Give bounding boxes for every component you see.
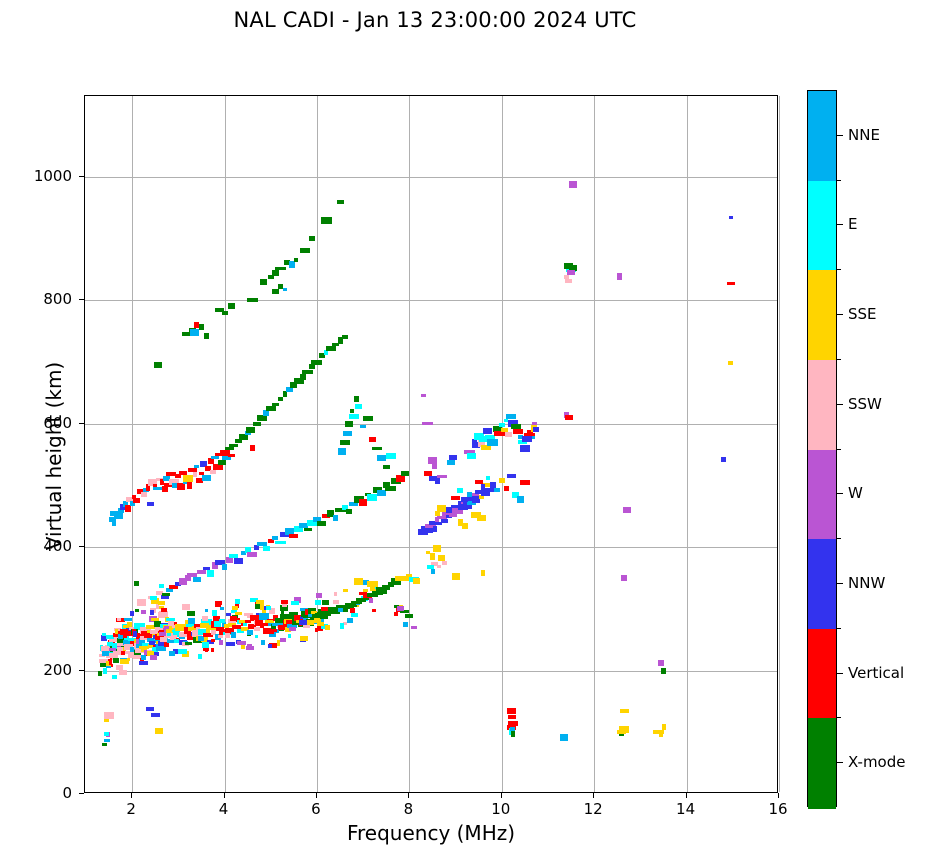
x-tick-label: 8 [388, 800, 428, 818]
echo-marker [432, 463, 437, 469]
echo-marker [212, 610, 217, 616]
echo-marker [219, 640, 223, 645]
ionogram-figure: NAL CADI - Jan 13 23:00:00 2024 UTC 2468… [0, 0, 951, 856]
echo-marker [205, 609, 208, 612]
echo-marker [386, 453, 396, 459]
colorbar-tick [837, 404, 843, 405]
echo-marker [317, 622, 324, 626]
echo-marker [728, 361, 733, 365]
echo-marker [155, 728, 163, 734]
echo-marker [272, 536, 278, 540]
echo-marker [360, 425, 366, 428]
colorbar-segment-e [808, 181, 836, 271]
echo-marker [190, 329, 199, 336]
x-tick [593, 793, 594, 798]
colorbar-tick [837, 314, 843, 315]
echo-marker [116, 665, 123, 670]
colorbar-separator-tick [837, 359, 841, 360]
echo-marker [662, 724, 666, 730]
echo-marker [447, 460, 455, 465]
echo-marker [337, 200, 344, 204]
x-tick [131, 793, 132, 798]
echo-marker [334, 592, 337, 596]
echo-marker [315, 600, 321, 605]
echo-marker [367, 581, 378, 587]
echo-marker [342, 335, 348, 339]
echo-marker [102, 743, 107, 746]
echo-marker [355, 404, 362, 409]
echo-marker [150, 655, 157, 660]
echo-marker [272, 289, 279, 294]
echo-marker [199, 324, 204, 330]
colorbar-label-sse: SSE [848, 305, 877, 323]
echo-marker [394, 612, 398, 616]
echo-marker [350, 608, 355, 613]
echo-marker [430, 553, 435, 560]
echo-marker [222, 311, 228, 315]
echo-marker [255, 604, 260, 609]
colorbar-segment-x-mode [808, 718, 836, 808]
echo-marker [234, 558, 243, 564]
echo-marker [182, 604, 190, 610]
colorbar-label-ssw: SSW [848, 395, 882, 413]
echo-marker [321, 607, 328, 611]
x-tick-label: 16 [758, 800, 798, 818]
echo-marker [437, 505, 446, 512]
echo-marker [499, 478, 505, 483]
echo-marker [303, 625, 310, 628]
colorbar-separator-tick [837, 269, 841, 270]
echo-marker [235, 599, 240, 604]
echo-marker [280, 638, 286, 642]
y-tick [79, 793, 84, 794]
echo-marker [104, 739, 110, 742]
echo-marker [501, 428, 508, 432]
echo-marker [159, 584, 164, 588]
echo-marker [231, 632, 236, 638]
x-tick-label: 12 [573, 800, 613, 818]
echo-marker [289, 261, 295, 268]
echo-marker [98, 671, 102, 676]
echo-marker [369, 598, 373, 603]
colorbar-separator-tick [837, 538, 841, 539]
echo-marker [506, 414, 516, 419]
echo-marker [494, 488, 500, 492]
echo-marker [347, 618, 353, 623]
colorbar-label-nne: NNE [848, 126, 880, 144]
echo-marker [225, 633, 230, 638]
echo-marker [300, 636, 308, 641]
echo-marker [146, 707, 154, 711]
echo-marker [141, 610, 146, 614]
echo-marker [185, 620, 188, 624]
echo-marker [346, 509, 352, 514]
echo-marker [228, 303, 235, 309]
echo-marker [150, 610, 154, 615]
echo-marker [183, 475, 193, 482]
echo-marker [499, 423, 505, 427]
echo-marker [202, 616, 208, 621]
x-tick-label: 6 [296, 800, 336, 818]
y-tick-label: 200 [24, 661, 72, 679]
echo-marker [149, 641, 155, 645]
y-tick-label: 0 [24, 784, 72, 802]
echo-marker [721, 457, 726, 462]
echo-marker [187, 611, 195, 616]
echo-marker [109, 660, 112, 665]
echo-marker [120, 629, 128, 635]
echo-marker [560, 734, 568, 741]
echo-marker [161, 608, 167, 612]
echo-marker [486, 476, 490, 480]
echo-marker [151, 713, 160, 717]
echo-marker [112, 519, 116, 526]
echo-marker [100, 663, 106, 667]
echo-marker [372, 447, 382, 450]
echo-marker [278, 397, 283, 401]
colorbar-label-e: E [848, 215, 857, 233]
echo-marker [359, 499, 367, 506]
echo-marker [481, 484, 485, 490]
echo-marker [202, 475, 211, 481]
echo-marker [729, 216, 733, 219]
echo-marker [141, 655, 146, 660]
echo-marker [237, 641, 246, 645]
echo-marker [137, 599, 146, 606]
page-title: NAL CADI - Jan 13 23:00:00 2024 UTC [0, 8, 870, 32]
echo-marker [400, 610, 409, 613]
echo-marker [520, 445, 530, 452]
echo-marker [141, 492, 147, 497]
echo-marker [187, 482, 192, 489]
echo-scatter-layer [85, 96, 777, 792]
echo-marker [294, 258, 298, 262]
echo-marker [452, 573, 460, 580]
colorbar-segment-nne [808, 91, 836, 181]
echo-marker [266, 406, 276, 411]
colorbar-segment-vertical [808, 629, 836, 719]
echo-marker [321, 217, 332, 224]
y-tick [79, 176, 84, 177]
echo-marker [349, 414, 359, 419]
echo-marker [291, 601, 299, 605]
echo-marker [147, 502, 154, 506]
echo-marker [125, 505, 131, 512]
echo-marker [260, 279, 267, 285]
echo-marker [200, 623, 209, 628]
colorbar-separator-tick [837, 180, 841, 181]
echo-marker [204, 333, 209, 339]
echo-marker [343, 589, 348, 592]
echo-marker [261, 640, 265, 645]
echo-marker [340, 440, 350, 445]
y-tick [79, 423, 84, 424]
echo-marker [431, 569, 435, 574]
colorbar-tick [837, 673, 843, 674]
colorbar-label-x-mode: X-mode [848, 753, 905, 771]
echo-marker [338, 608, 343, 612]
echo-marker [218, 635, 223, 638]
x-tick [224, 793, 225, 798]
echo-marker [197, 570, 206, 574]
y-tick [79, 299, 84, 300]
x-tick-label: 10 [481, 800, 521, 818]
echo-marker [211, 639, 215, 642]
echo-marker [246, 427, 255, 433]
echo-marker [219, 619, 225, 623]
echo-marker [158, 601, 165, 605]
echo-marker [658, 660, 664, 666]
echo-marker [385, 486, 396, 491]
echo-marker [325, 625, 330, 630]
echo-marker [255, 635, 258, 638]
echo-marker [202, 642, 209, 648]
echo-marker [617, 273, 622, 280]
echo-marker [481, 570, 485, 576]
echo-marker [167, 633, 171, 636]
echo-marker [113, 658, 119, 663]
echo-marker [520, 480, 530, 485]
echo-marker [659, 734, 663, 737]
echo-marker [565, 415, 573, 420]
echo-marker [246, 646, 254, 650]
echo-marker [354, 578, 363, 585]
echo-marker [210, 470, 216, 474]
echo-marker [263, 546, 270, 551]
echo-marker [178, 649, 187, 654]
x-tick [778, 793, 779, 798]
echo-marker [367, 494, 377, 501]
echo-marker [150, 596, 157, 600]
colorbar-tick [837, 224, 843, 225]
echo-marker [193, 472, 197, 477]
echo-marker [229, 444, 238, 447]
colorbar-tick [837, 135, 843, 136]
echo-marker [569, 181, 577, 188]
echo-marker [422, 527, 433, 533]
colorbar-label-nnw: NNW [848, 574, 885, 592]
echo-marker [104, 732, 109, 736]
echo-marker [427, 565, 434, 569]
echo-marker [127, 622, 132, 627]
echo-marker [211, 648, 214, 652]
echo-marker [437, 475, 447, 478]
echo-marker [363, 589, 368, 592]
plot-area [84, 95, 778, 793]
echo-marker [112, 675, 117, 679]
echo-marker [533, 427, 539, 432]
echo-marker [441, 519, 448, 523]
echo-marker [372, 609, 376, 612]
echo-marker [322, 600, 329, 605]
echo-marker [241, 644, 245, 649]
echo-marker [477, 515, 486, 521]
colorbar-separator-tick [837, 449, 841, 450]
echo-marker [567, 270, 575, 275]
colorbar-tick [837, 583, 843, 584]
echo-marker [343, 431, 352, 436]
x-tick-label: 14 [666, 800, 706, 818]
echo-marker [461, 497, 468, 502]
echo-marker [309, 236, 315, 241]
echo-marker [315, 613, 323, 617]
echo-marker [462, 523, 468, 529]
echo-marker [207, 570, 214, 577]
echo-marker [198, 654, 202, 659]
echo-marker [326, 346, 336, 351]
echo-marker [272, 270, 279, 276]
echo-marker [316, 593, 322, 598]
echo-marker [433, 526, 437, 532]
echo-marker [451, 496, 460, 500]
echo-marker [220, 607, 224, 610]
colorbar-label-w: W [848, 484, 863, 502]
echo-marker [565, 279, 572, 283]
echo-marker [226, 642, 235, 646]
echo-marker [401, 471, 409, 476]
echo-marker [302, 370, 313, 374]
echo-marker [437, 565, 441, 568]
echo-marker [363, 416, 373, 421]
echo-marker [124, 618, 132, 621]
echo-marker [621, 575, 627, 581]
echo-marker [422, 422, 433, 425]
echo-marker [505, 432, 512, 437]
colorbar-segment-sse [808, 270, 836, 360]
echo-marker [274, 629, 277, 632]
echo-marker [487, 439, 498, 446]
echo-marker [139, 661, 148, 665]
echo-marker [174, 639, 179, 643]
echo-marker [403, 622, 408, 627]
echo-marker [309, 364, 315, 369]
echo-marker [169, 651, 175, 656]
x-tick [686, 793, 687, 798]
echo-marker [504, 486, 509, 491]
echo-marker [253, 422, 261, 426]
echo-marker [397, 606, 404, 611]
y-tick-label: 1000 [24, 167, 72, 185]
echo-marker [300, 248, 310, 253]
echo-marker [194, 465, 199, 468]
echo-marker [103, 668, 107, 674]
colorbar-segment-nnw [808, 539, 836, 629]
echo-marker [130, 611, 134, 616]
echo-marker [120, 659, 129, 664]
colorbar-tick [837, 762, 843, 763]
echo-marker [247, 630, 253, 635]
echo-marker [421, 394, 426, 397]
echo-marker [162, 593, 170, 596]
x-tick [501, 793, 502, 798]
echo-marker [483, 428, 492, 434]
azimuth-colorbar [807, 90, 837, 807]
echo-marker [304, 528, 312, 531]
echo-marker [185, 642, 192, 645]
colorbar-label-vertical: Vertical [848, 664, 904, 682]
echo-marker [134, 581, 139, 586]
echo-marker [104, 719, 109, 722]
echo-marker [508, 715, 516, 719]
echo-marker [369, 437, 376, 442]
echo-marker [243, 623, 247, 626]
echo-marker [102, 651, 109, 656]
echo-marker [159, 632, 166, 636]
echo-marker [510, 727, 515, 731]
x-tick [408, 793, 409, 798]
echo-marker [206, 630, 210, 633]
echo-marker [517, 496, 524, 503]
echo-marker [405, 614, 413, 618]
echo-marker [283, 288, 287, 291]
echo-marker [338, 448, 346, 455]
colorbar-segment-w [808, 450, 836, 540]
echo-marker [435, 477, 440, 484]
x-tick-label: 4 [204, 800, 244, 818]
echo-marker [247, 552, 257, 557]
echo-marker [289, 534, 298, 538]
echo-marker [193, 577, 201, 582]
echo-marker [222, 564, 227, 570]
echo-marker [532, 422, 537, 425]
echo-marker [250, 445, 255, 451]
echo-marker [300, 374, 306, 380]
echo-marker [218, 460, 226, 465]
echo-marker [617, 730, 626, 734]
gridline-vertical [779, 96, 780, 792]
echo-marker [104, 712, 114, 719]
echo-marker [228, 454, 235, 457]
echo-marker [213, 464, 223, 470]
echo-marker [467, 492, 472, 497]
x-tick [316, 793, 317, 798]
echo-marker [383, 465, 390, 469]
echo-marker [235, 612, 242, 615]
echo-marker [411, 626, 417, 629]
echo-marker [154, 362, 162, 368]
echo-marker [433, 545, 441, 552]
echo-marker [268, 644, 272, 648]
echo-marker [117, 618, 121, 621]
echo-marker [620, 709, 629, 713]
echo-marker [275, 267, 286, 270]
x-tick-label: 2 [111, 800, 151, 818]
echo-marker [413, 578, 420, 584]
echo-marker [507, 474, 516, 478]
echo-marker [299, 523, 308, 528]
echo-marker [266, 606, 271, 610]
echo-marker [119, 670, 127, 675]
echo-marker [289, 627, 296, 631]
echo-marker [133, 498, 140, 503]
echo-marker [215, 601, 221, 607]
echo-marker [623, 507, 631, 513]
echo-marker [507, 708, 516, 714]
echo-marker [272, 403, 279, 406]
y-tick [79, 546, 84, 547]
echo-marker [727, 282, 735, 285]
echo-marker [247, 298, 258, 302]
echo-marker [449, 455, 457, 460]
echo-marker [275, 541, 286, 544]
echo-marker [442, 561, 447, 565]
echo-marker [377, 455, 386, 461]
echo-marker [340, 623, 344, 629]
echo-marker [467, 453, 476, 459]
echo-marker [121, 651, 125, 655]
echo-marker [225, 447, 234, 450]
colorbar-separator-tick [837, 628, 841, 629]
